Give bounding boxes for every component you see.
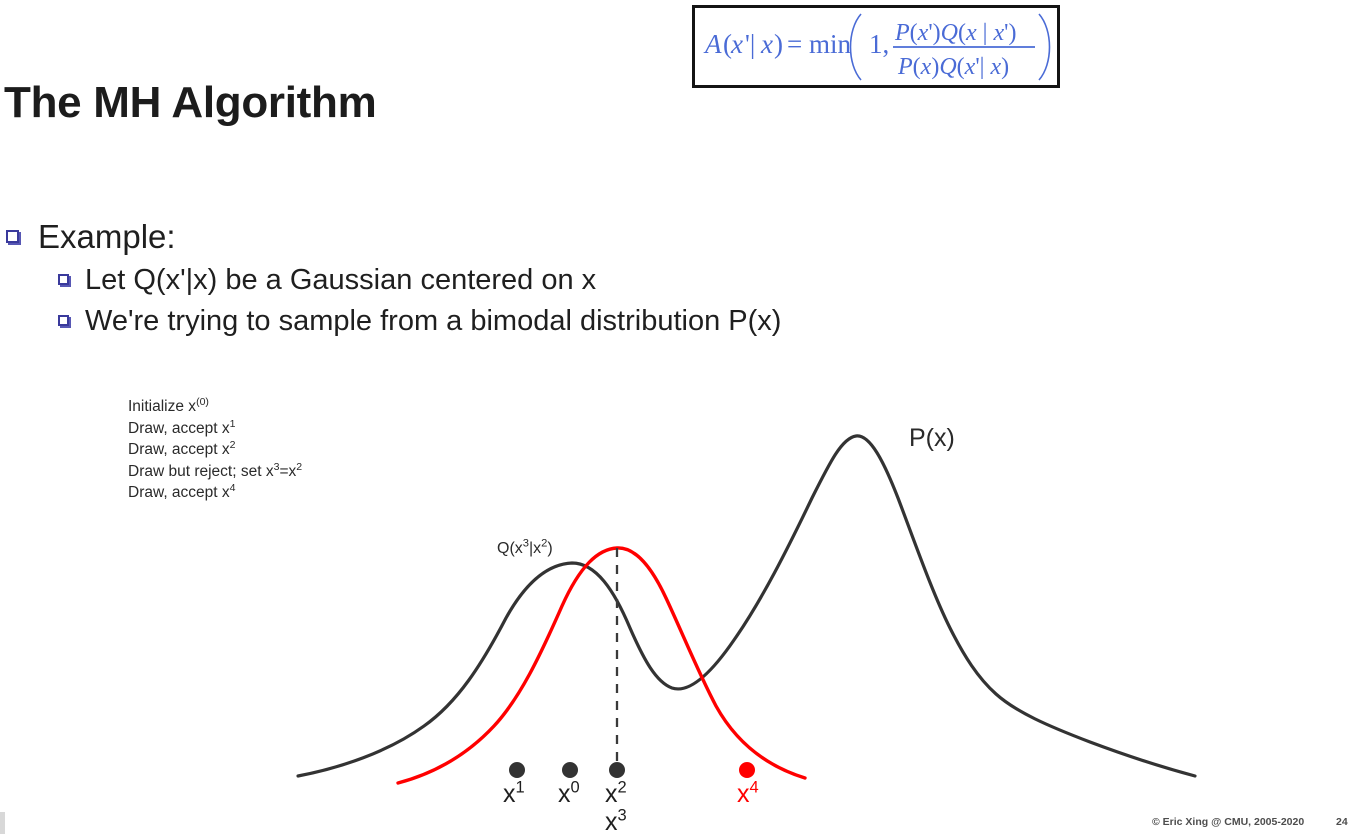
formula-xprime: x [730,29,743,59]
footer-copyright: © Eric Xing @ CMU, 2005-2020 [1152,816,1304,828]
step-accept-x4: Draw, accept x4 [128,482,302,504]
footer-page-number: 24 [1336,816,1348,828]
point-label-x3: x3 [605,808,627,834]
label-p-target: P(x) [909,424,955,453]
bullet-gaussian-proposal: Let Q(x'|x) be a Gaussian centered on x [58,264,596,297]
step-accept-x1: Draw, accept x1 [128,418,302,440]
square-bullet-icon [58,274,69,285]
sample-point-x4 [739,762,755,778]
page-title: The MH Algorithm [4,78,376,128]
step-reject-x3: Draw but reject; set x3=x2 [128,461,302,483]
point-label-x2: x2 [605,780,627,809]
formula-numerator: P(x')Q(x | x') [894,20,1016,46]
bullet-example-label: Example: [38,218,176,256]
edge-marker [0,812,5,834]
formula-close-paren: ) [774,29,783,59]
slide-canvas: A ( x '| x ) = min 1, P(x')Q(x | x') P(x… [0,0,1370,834]
step-accept-x2: Draw, accept x2 [128,439,302,461]
curve-p-of-x [298,436,1195,776]
sample-point-x1 [509,762,525,778]
formula-one: 1, [869,29,889,59]
bullet-example: Example: [6,218,176,256]
sample-point-x0 [562,762,578,778]
point-label-x1: x1 [503,780,525,809]
acceptance-ratio-formula: A ( x '| x ) = min 1, P(x')Q(x | x') P(x… [695,8,1057,85]
formula-big-paren-open [851,14,862,80]
acceptance-ratio-formula-box: A ( x '| x ) = min 1, P(x')Q(x | x') P(x… [692,5,1060,88]
bullet-gaussian-proposal-label: Let Q(x'|x) be a Gaussian centered on x [85,264,596,297]
point-label-x0: x0 [558,780,580,809]
algorithm-steps-annotation: Initialize x(0) Draw, accept x1 Draw, ac… [128,396,302,504]
bullet-bimodal-target: We're trying to sample from a bimodal di… [58,305,781,338]
step-initialize: Initialize x(0) [128,396,302,418]
bullet-bimodal-target-label: We're trying to sample from a bimodal di… [85,305,781,338]
formula-equals: = [787,29,802,59]
formula-prime-bar: '| [745,29,755,59]
sample-point-x2 [609,762,625,778]
curve-q-proposal [398,548,805,783]
formula-big-paren-close [1039,14,1050,80]
formula-lhs: A [703,29,722,59]
formula-x: x [760,29,773,59]
label-q-proposal: Q(x3|x2) [497,540,553,558]
square-bullet-icon [58,315,69,326]
point-label-x4: x4 [737,780,759,809]
formula-min: min [809,29,852,59]
square-bullet-icon [6,230,19,243]
formula-denominator: P(x)Q(x'| x) [897,54,1009,80]
